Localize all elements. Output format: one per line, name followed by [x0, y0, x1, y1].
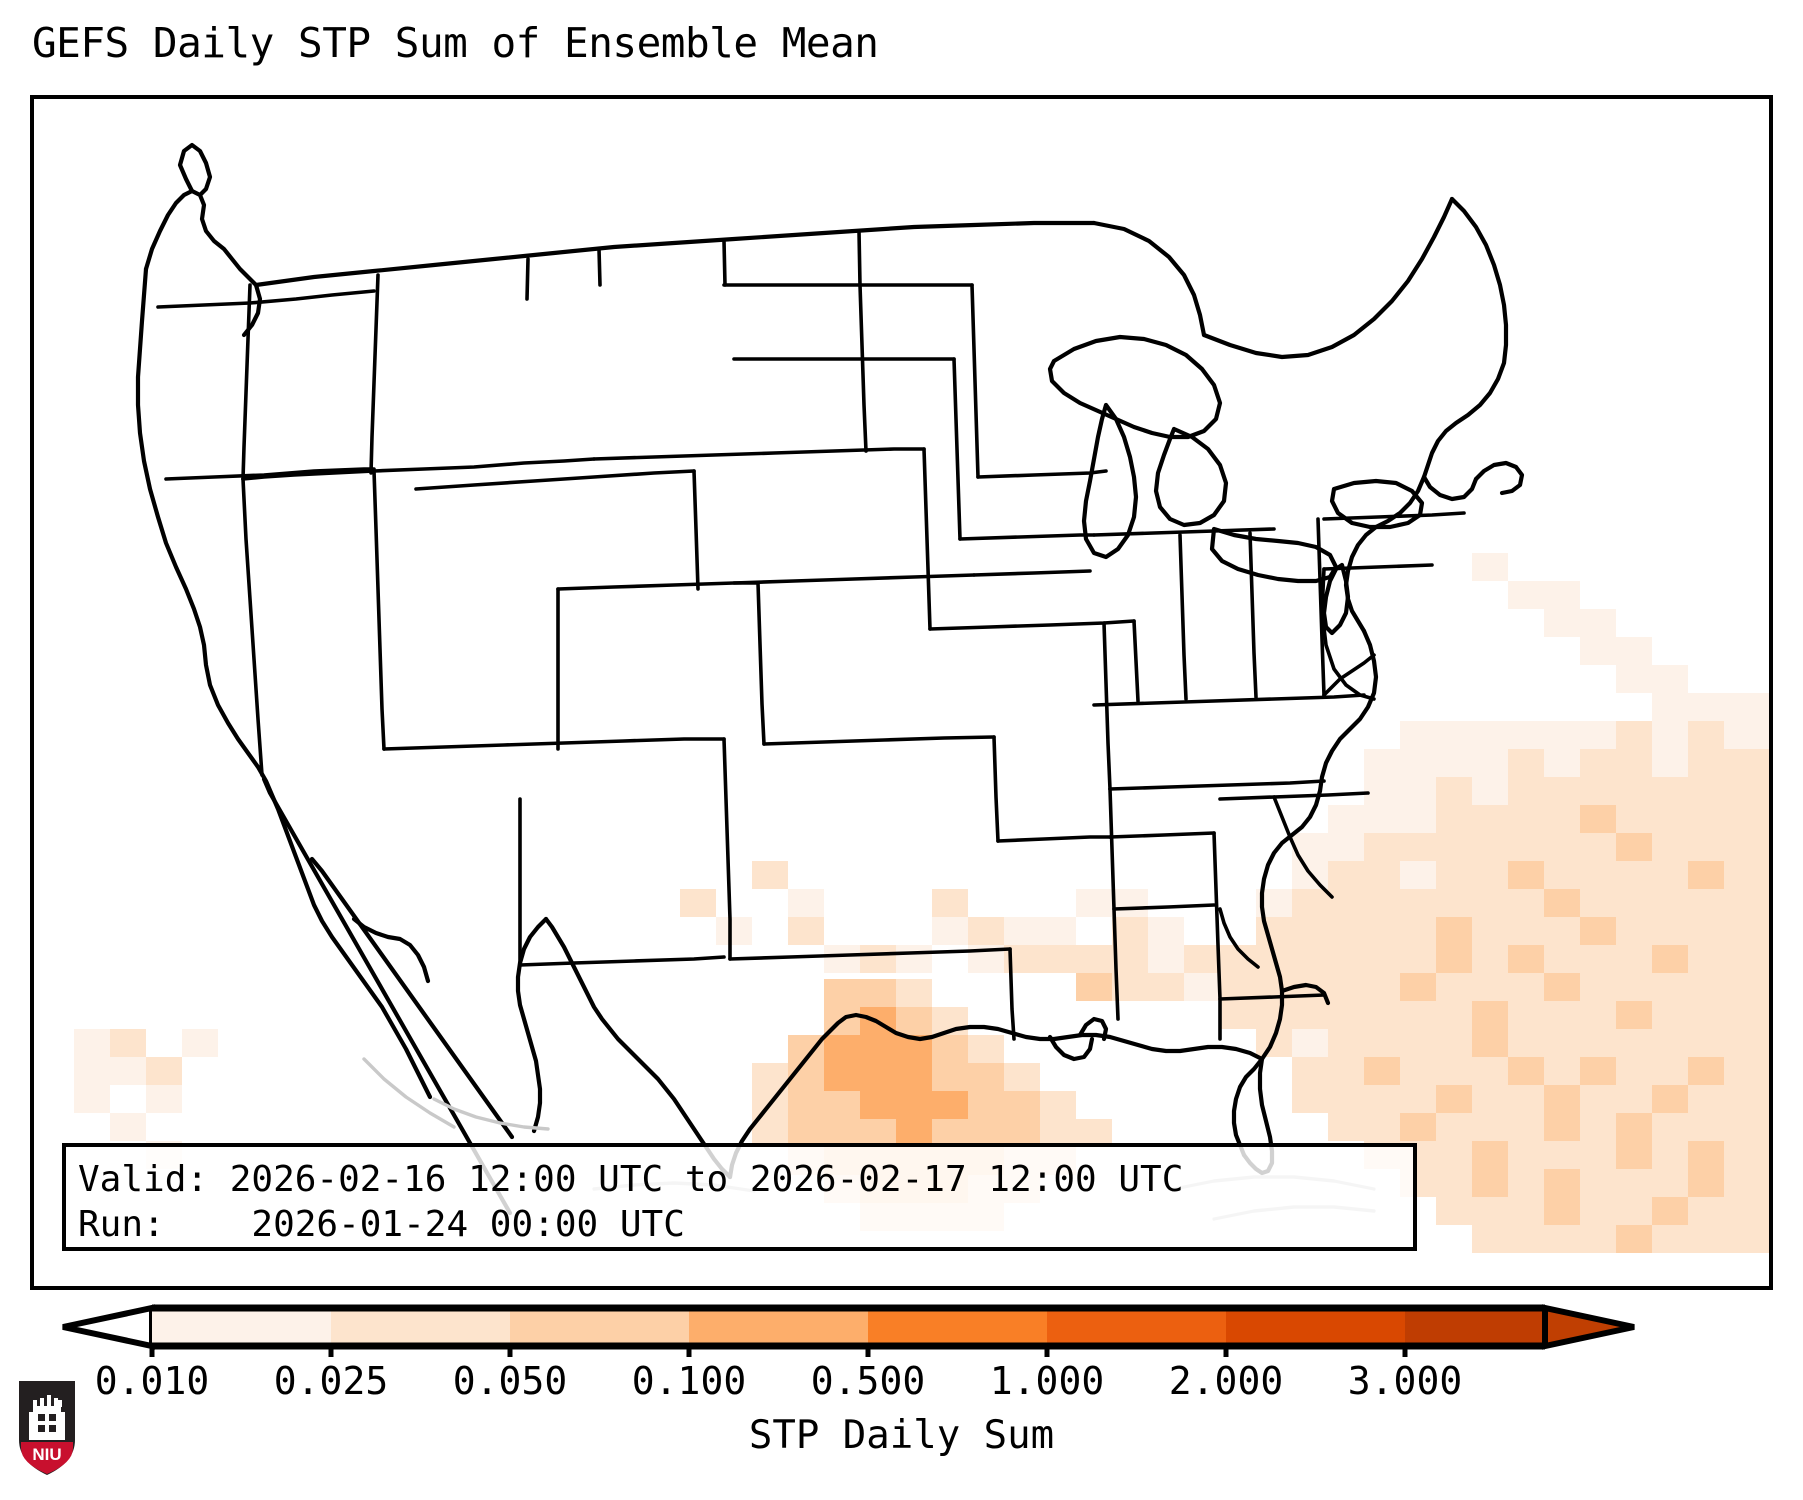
cbar-tick-5: 1.000: [990, 1358, 1104, 1404]
info-box: Valid: 2026-02-16 12:00 UTC to 2026-02-1…: [62, 1143, 1417, 1251]
cbar-tick-6: 2.000: [1169, 1358, 1283, 1404]
colorbar[interactable]: [0, 1297, 1803, 1357]
cbar-tick-3: 0.100: [632, 1358, 746, 1404]
colorbar-tick-labels: 0.010 0.025 0.050 0.100 0.500 1.000 2.00…: [0, 1358, 1803, 1410]
colorbar-bands: [63, 1308, 1634, 1346]
run-time-line: Run: 2026-01-24 00:00 UTC: [78, 1202, 1413, 1247]
cbar-tick-4: 0.500: [811, 1358, 925, 1404]
page-title: GEFS Daily STP Sum of Ensemble Mean: [32, 18, 878, 68]
figure-canvas: GEFS Daily STP Sum of Ensemble Mean .c1 …: [0, 0, 1803, 1500]
niu-logo-text: NIU: [32, 1445, 61, 1464]
cbar-tick-0: 0.010: [95, 1358, 209, 1404]
cbar-tick-1: 0.025: [274, 1358, 388, 1404]
niu-logo: NIU: [16, 1378, 78, 1478]
map-axes[interactable]: .c1 { fill:#fdf2e9; } .c2 { fill:#fde4cd…: [30, 95, 1773, 1290]
cbar-tick-7: 3.000: [1348, 1358, 1462, 1404]
map-plot: .c1 { fill:#fdf2e9; } .c2 { fill:#fde4cd…: [34, 99, 1769, 1286]
cbar-tick-2: 0.050: [453, 1358, 567, 1404]
valid-time-line: Valid: 2026-02-16 12:00 UTC to 2026-02-1…: [78, 1157, 1413, 1202]
colorbar-svg[interactable]: [0, 1297, 1803, 1357]
colorbar-axis-label: STP Daily Sum: [0, 1412, 1803, 1460]
